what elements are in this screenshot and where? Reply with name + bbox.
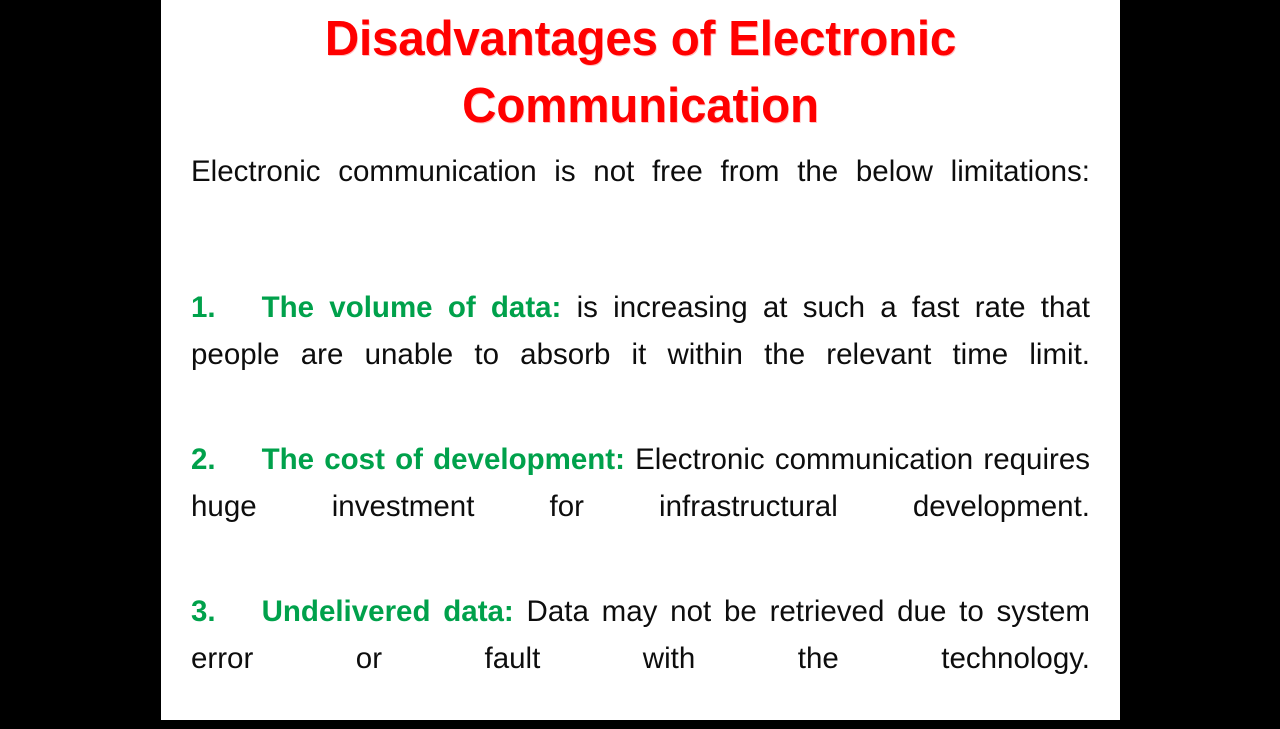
list-item-number: 3. (191, 595, 216, 628)
intro-paragraph: Electronic communication is not free fro… (191, 148, 1090, 242)
list-item-number: 1. (191, 291, 216, 324)
list-item-term: The cost of development: (262, 443, 625, 476)
list-item-number: 2. (191, 443, 216, 476)
slide-title: Disadvantages of Electronic Communicatio… (204, 0, 1076, 140)
list-item: 3.Undelivered data: Data may not be retr… (191, 588, 1090, 729)
list-item: 2.The cost of development: Electronic co… (191, 436, 1090, 577)
paragraph-spacer (191, 242, 1090, 284)
letterbox-bar-left (0, 0, 161, 720)
letterbox-bar-right (1120, 0, 1280, 720)
slide-body: Electronic communication is not free fro… (191, 148, 1090, 729)
slide-canvas: Disadvantages of Electronic Communicatio… (161, 0, 1120, 720)
list-item-term: Undelivered data: (262, 595, 514, 628)
list-item: 1.The volume of data: is increasing at s… (191, 284, 1090, 425)
slide-frame: Disadvantages of Electronic Communicatio… (0, 0, 1280, 720)
list-item-term: The volume of data: (262, 291, 562, 324)
